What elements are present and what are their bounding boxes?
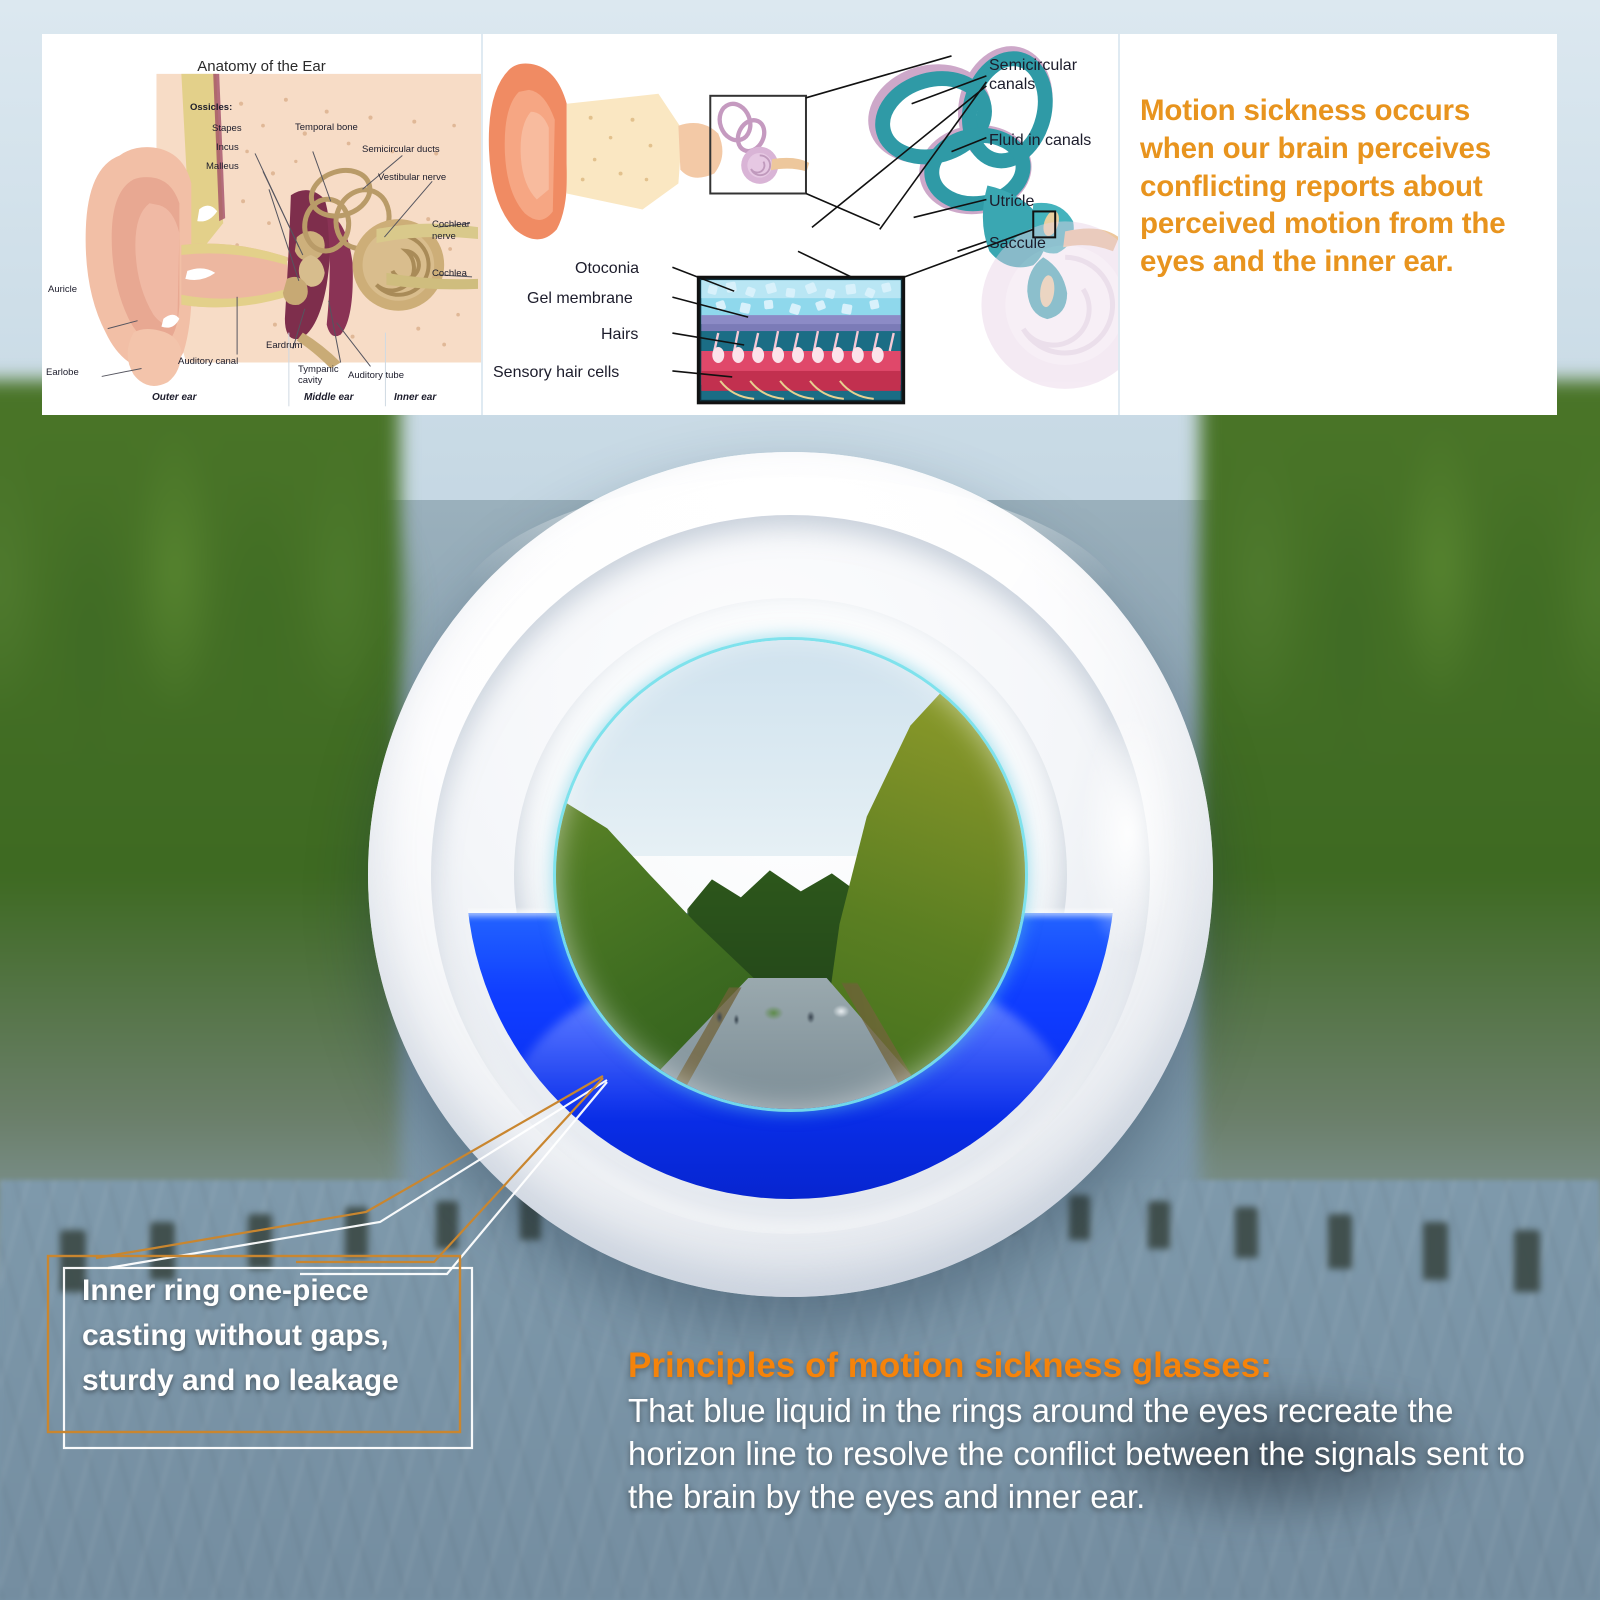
vestibular-system-diagram: Semicircular canals Fluid in canals Utri… xyxy=(483,34,1120,415)
info-panel: Anatomy of the Ear xyxy=(42,34,1557,415)
label-eardrum: Eardrum xyxy=(266,340,302,351)
bollard xyxy=(1514,1230,1540,1292)
label-fluid-in-canals: Fluid in canals xyxy=(989,132,1091,150)
label-cochlear-nerve: Cochlear nerve xyxy=(432,219,476,243)
ring-outer-body xyxy=(368,452,1213,1297)
lens-view xyxy=(556,640,1026,1110)
bollard xyxy=(248,1214,272,1269)
bollard xyxy=(1328,1214,1352,1269)
motion-sickness-glasses-ring xyxy=(368,452,1213,1297)
lens-people xyxy=(706,992,875,1034)
bollard xyxy=(1423,1222,1448,1280)
label-gel-membrane: Gel membrane xyxy=(527,290,633,308)
ear-anatomy-illustration xyxy=(42,34,481,413)
label-auditory-tube: Auditory tube xyxy=(348,370,404,381)
label-hairs: Hairs xyxy=(601,326,638,344)
principles-caption: Principles of motion sickness glasses: T… xyxy=(628,1345,1558,1519)
headline-column: Motion sickness occurs when our brain pe… xyxy=(1120,34,1557,415)
bollard xyxy=(345,1207,368,1258)
label-saccule: Saccule xyxy=(989,235,1046,253)
section-outer-ear: Outer ear xyxy=(152,392,196,403)
label-utricle: Utricle xyxy=(989,193,1034,211)
label-incus: Incus xyxy=(216,142,239,153)
label-auricle: Auricle xyxy=(48,284,77,295)
ear-anatomy-diagram: Anatomy of the Ear xyxy=(42,34,483,415)
label-cochlea: Cochlea xyxy=(432,268,467,279)
ring-right-highlight xyxy=(1078,706,1179,960)
caption-title: Principles of motion sickness glasses: xyxy=(628,1345,1558,1386)
label-stapes: Stapes xyxy=(212,123,242,134)
callout-text: Inner ring one-piece casting without gap… xyxy=(82,1268,462,1403)
label-earlobe: Earlobe xyxy=(46,367,79,378)
bollard xyxy=(1235,1207,1258,1258)
label-vestibular-nerve: Vestibular nerve xyxy=(378,172,446,183)
ossicles-group-label: Ossicles: xyxy=(190,102,232,113)
section-middle-ear: Middle ear xyxy=(304,392,353,403)
label-sensory-hair-cells: Sensory hair cells xyxy=(493,364,619,382)
headline-text: Motion sickness occurs when our brain pe… xyxy=(1140,92,1547,281)
label-semicircular-canals: Semicircular canals xyxy=(989,56,1109,94)
caption-body: That blue liquid in the rings around the… xyxy=(628,1390,1558,1519)
label-auditory-canal: Auditory canal xyxy=(178,356,238,367)
label-otoconia: Otoconia xyxy=(575,260,639,278)
section-inner-ear: Inner ear xyxy=(394,392,436,403)
label-temporal-bone: Temporal bone xyxy=(295,122,358,133)
label-semicircular-ducts: Semicircular ducts xyxy=(362,144,440,155)
label-malleus: Malleus xyxy=(206,161,239,172)
label-tympanic-cavity: Tympanic cavity xyxy=(298,364,340,387)
